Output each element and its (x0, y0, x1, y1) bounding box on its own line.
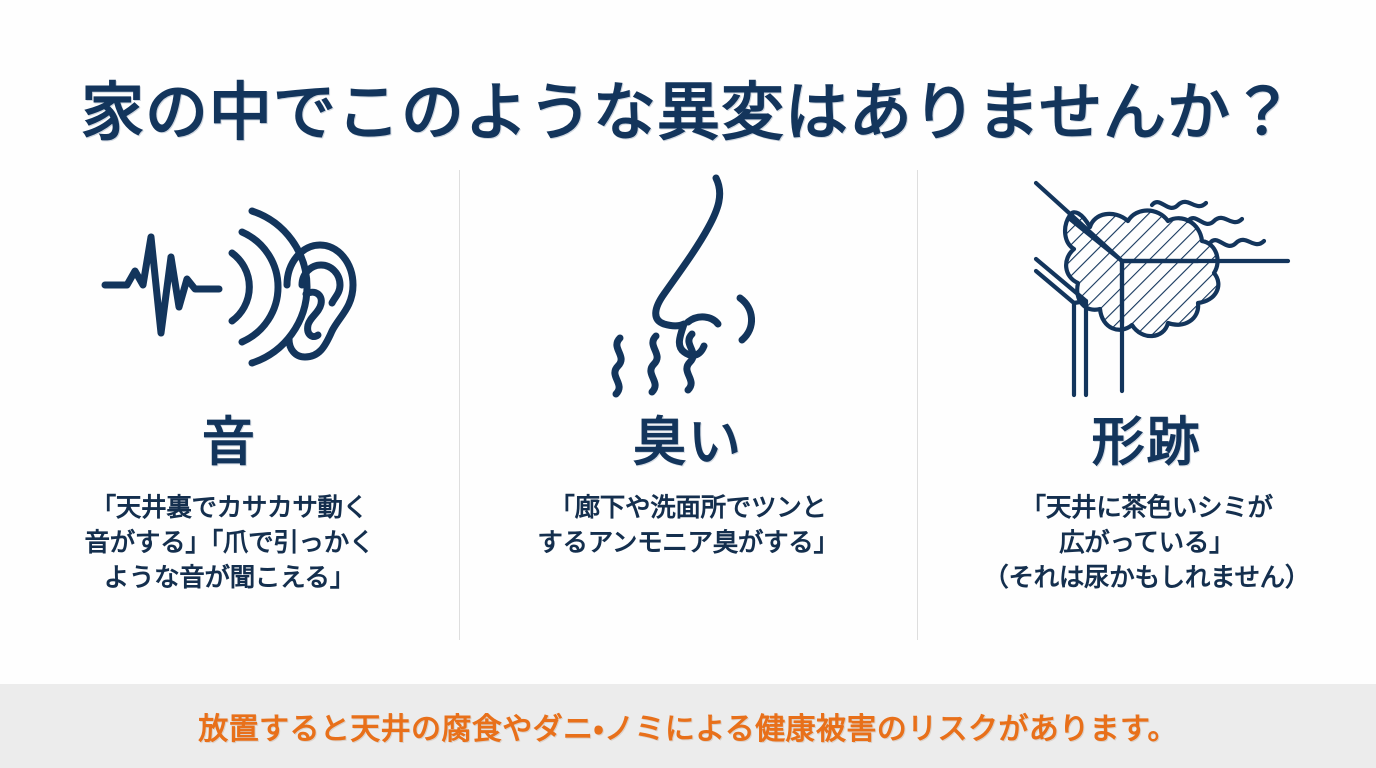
symptom-columns: 音 「天井裏でカサカサ動く 音がする」「爪で引っかく ような音が聞こえる」 (0, 160, 1376, 645)
column-smell: 臭い 「廊下や洗面所でツンと するアンモニア臭がする」 (459, 160, 918, 645)
column-trace: 形跡 「天井に茶色いシミが 広がっている」 （それは尿かもしれません） (917, 160, 1376, 645)
page-title: 家の中でこのような異変はありませんか？ (0, 78, 1376, 149)
ceiling-stain-icon (1002, 160, 1292, 410)
column-title-smell: 臭い (633, 416, 743, 469)
column-caption-smell: 「廊下や洗面所でツンと するアンモニア臭がする」 (537, 491, 838, 561)
warning-banner-text: 放置すると天井の腐食やダニ・ノミによる健康被害のリスクがあります。 (198, 704, 1178, 748)
column-title-trace: 形跡 (1092, 416, 1202, 469)
nose-smell-icon (588, 160, 788, 410)
column-sound: 音 「天井裏でカサカサ動く 音がする」「爪で引っかく ような音が聞こえる」 (0, 160, 459, 645)
column-caption-trace: 「天井に茶色いシミが 広がっている」 （それは尿かもしれません） (983, 491, 1310, 597)
column-title-sound: 音 (202, 416, 257, 469)
column-caption-sound: 「天井裏でカサカサ動く 音がする」「爪で引っかく ような音が聞こえる」 (85, 491, 375, 597)
sound-wave-ear-icon (99, 160, 359, 410)
warning-banner: 放置すると天井の腐食やダニ・ノミによる健康被害のリスクがあります。 (0, 684, 1376, 768)
slide-root: 家の中でこのような異変はありませんか？ 音 「天井裏でカサカサ (0, 0, 1376, 768)
